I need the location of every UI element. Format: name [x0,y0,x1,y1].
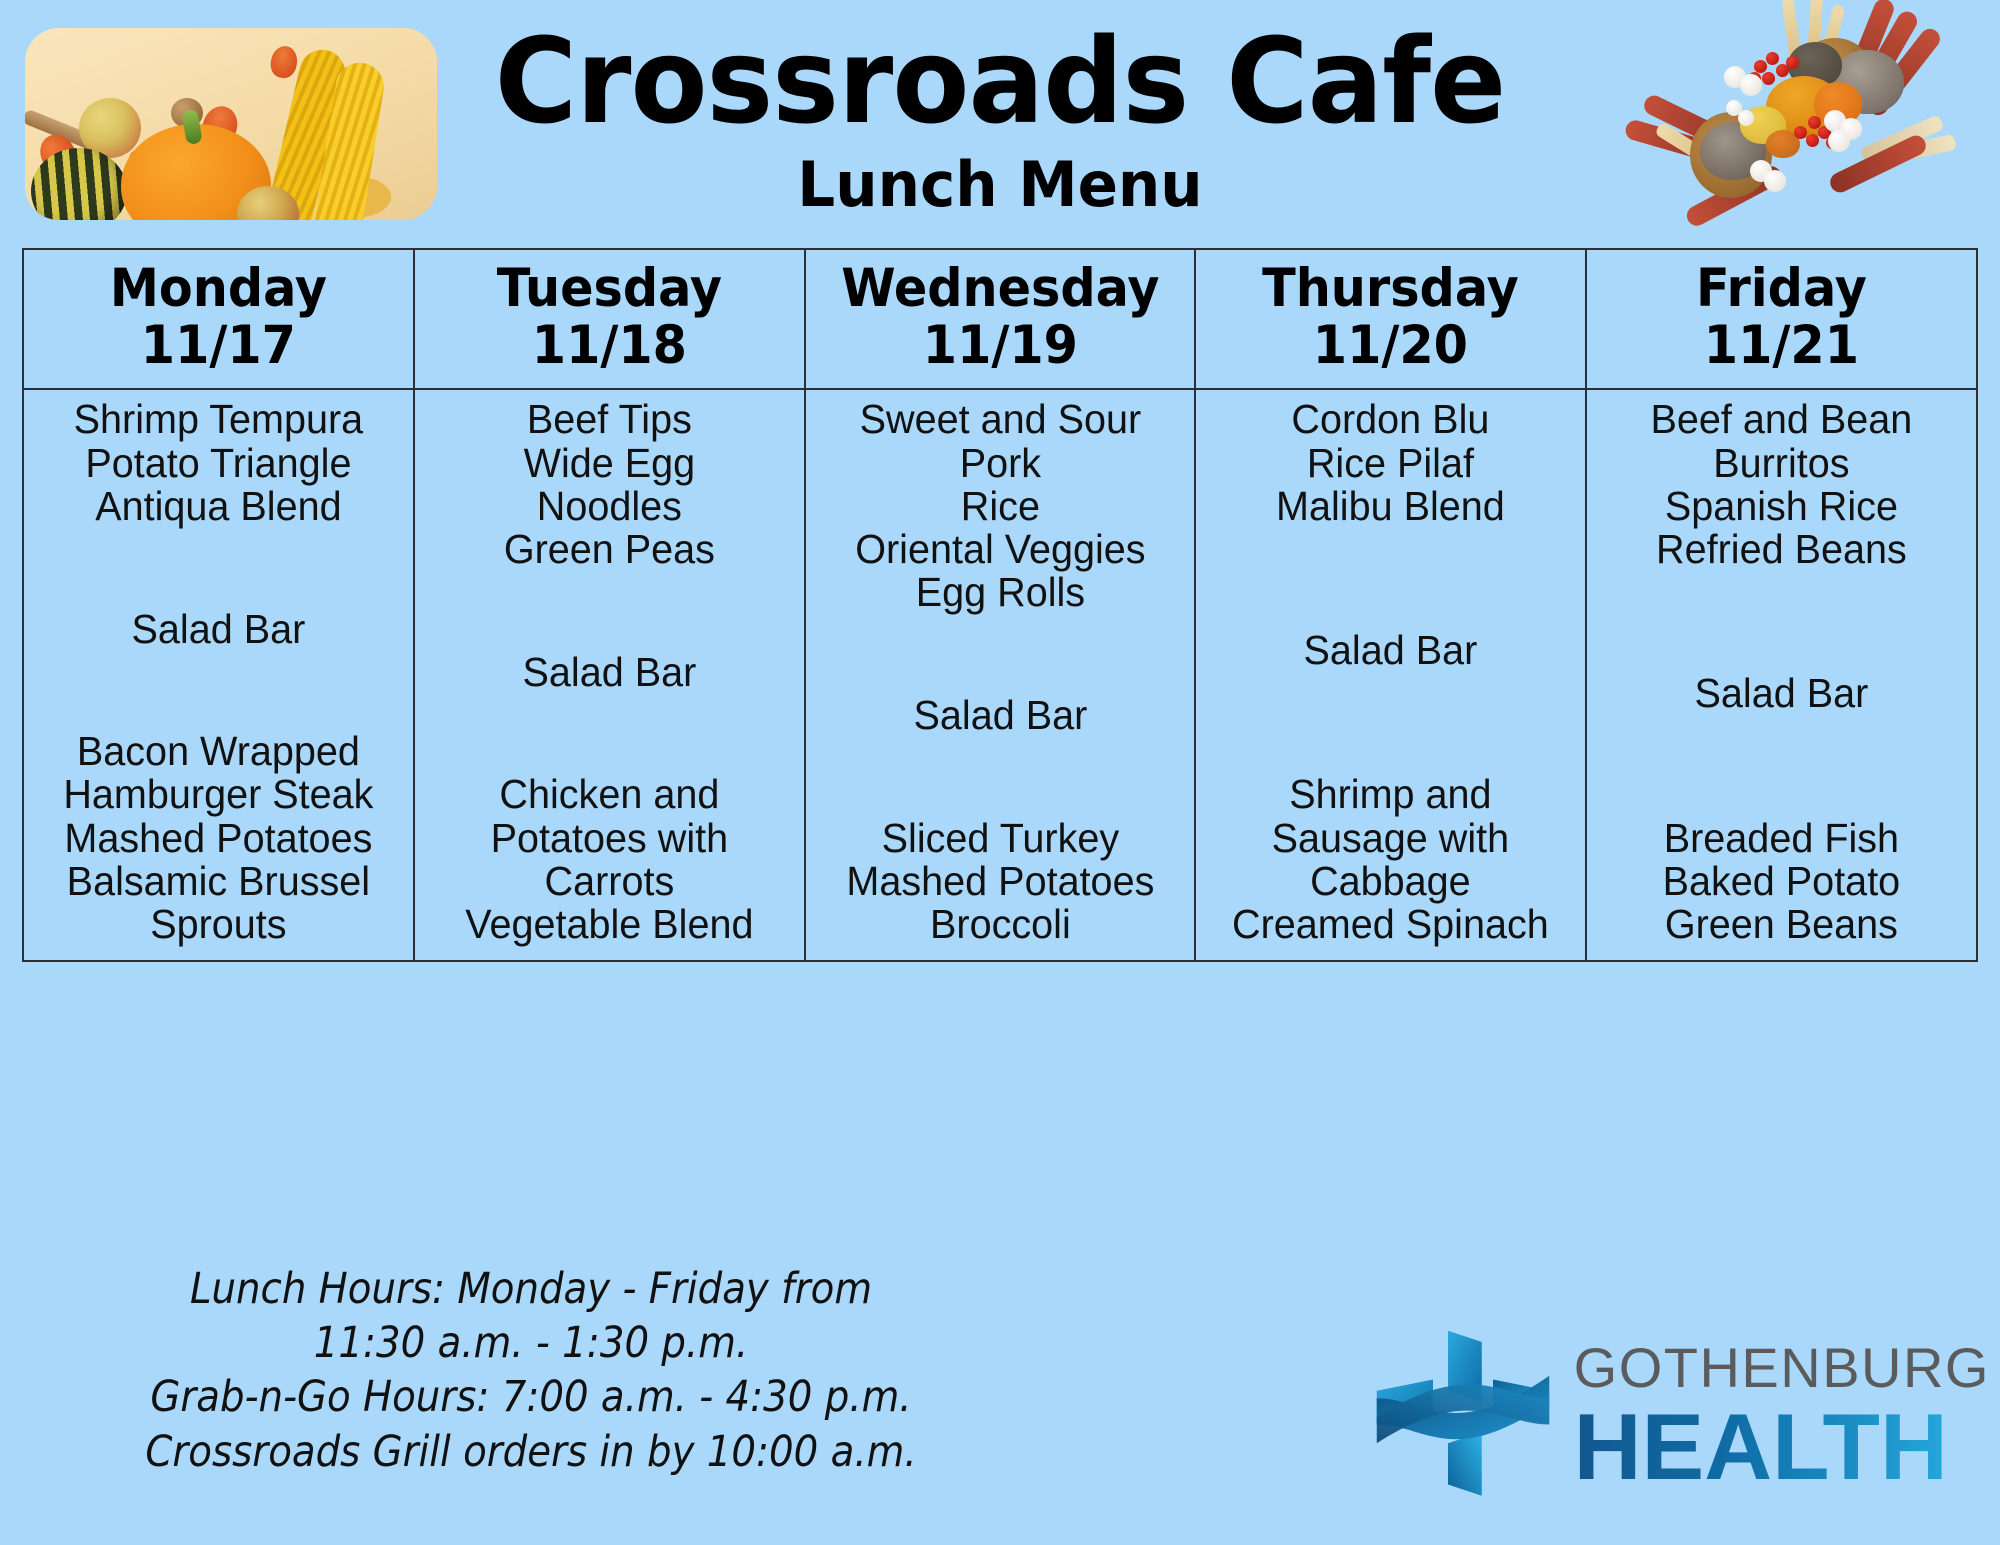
day-header-friday: Friday11/21 [1586,249,1977,389]
day-name: Friday [1605,260,1959,317]
menu-item: Vegetable Blend [425,903,792,946]
weekly-lunch-menu-table: Monday11/17Tuesday11/18Wednesday11/19Thu… [22,248,1978,962]
menu-item: Refried Beans [1598,528,1965,571]
entree-items: Cordon BluRice PilafMalibu Blend [1207,398,1574,528]
table-menu-row: Shrimp TempuraPotato TriangleAntiqua Ble… [23,389,1977,961]
day-name: Monday [41,260,395,317]
menu-item: Broccoli [816,903,1183,946]
berry-shape [1766,52,1779,65]
hours-line: Grab-n-Go Hours: 7:00 a.m. - 4:30 p.m. [77,1370,986,1424]
cotton-boll-shape [1764,170,1786,192]
menu-item: Wide Egg [425,442,792,485]
menu-item: Noodles [425,485,792,528]
berry-shape [1806,134,1819,147]
menu-item: Salad Bar [35,608,402,651]
logo-wordmark: GOTHENBURG HEALTH [1574,1340,1990,1494]
salad-bar-item: Salad Bar [816,694,1183,737]
menu-item: Baked Potato [1598,860,1965,903]
autumn-floral-arrangement [1662,0,1992,234]
day-name: Wednesday [823,260,1177,317]
logo-word-health: HEALTH [1574,1400,1990,1494]
menu-cell-tuesday: Beef TipsWide EggNoodlesGreen PeasSalad … [414,389,805,961]
day-date: 11/18 [432,317,786,374]
menu-item: Sweet and Sour [816,398,1183,441]
menu-item: Rice Pilaf [1207,442,1574,485]
menu-item: Potatoes with [425,817,792,860]
menu-cell-monday: Shrimp TempuraPotato TriangleAntiqua Ble… [23,389,414,961]
salad-bar-item: Salad Bar [35,608,402,651]
menu-item: Egg Rolls [816,571,1183,614]
menu-item: Malibu Blend [1207,485,1574,528]
cotton-boll-shape [1828,130,1850,152]
menu-item: Salad Bar [816,694,1183,737]
grill-items: Chicken andPotatoes withCarrotsVegetable… [425,773,792,946]
menu-item: Chicken and [425,773,792,816]
entree-items: Beef TipsWide EggNoodlesGreen Peas [425,398,792,571]
menu-item: Carrots [425,860,792,903]
cotton-boll-shape [1738,110,1754,126]
day-date: 11/21 [1605,317,1959,374]
day-name: Tuesday [432,260,786,317]
day-header-thursday: Thursday11/20 [1195,249,1586,389]
entree-items: Beef and BeanBurritosSpanish RiceRefried… [1598,398,1965,571]
day-name: Thursday [1214,260,1568,317]
menu-cell-friday: Beef and BeanBurritosSpanish RiceRefried… [1586,389,1977,961]
berry-shape [1762,72,1775,85]
menu-cell-wednesday: Sweet and SourPorkRiceOriental VeggiesEg… [805,389,1196,961]
menu-item: Green Peas [425,528,792,571]
grill-items: Bacon WrappedHamburger SteakMashed Potat… [35,730,402,946]
salad-bar-item: Salad Bar [425,651,792,694]
menu-item: Pork [816,442,1183,485]
menu-item: Mashed Potatoes [816,860,1183,903]
day-header-monday: Monday11/17 [23,249,414,389]
day-date: 11/20 [1214,317,1568,374]
menu-item: Mashed Potatoes [35,817,402,860]
menu-item: Antiqua Blend [35,485,402,528]
menu-cell-inner: Beef and BeanBurritosSpanish RiceRefried… [1591,396,1972,948]
menu-item: Shrimp and [1207,773,1574,816]
menu-cell-thursday: Cordon BluRice PilafMalibu BlendSalad Ba… [1195,389,1586,961]
salad-bar-item: Salad Bar [1207,629,1574,672]
menu-item: Hamburger Steak [35,773,402,816]
menu-item: Potato Triangle [35,442,402,485]
grill-items: Shrimp andSausage withCabbageCreamed Spi… [1207,773,1574,946]
menu-item: Creamed Spinach [1207,903,1574,946]
menu-item: Bacon Wrapped [35,730,402,773]
berry-shape [1794,126,1807,139]
grill-items: Sliced TurkeyMashed PotatoesBroccoli [816,817,1183,947]
menu-item: Sliced Turkey [816,817,1183,860]
berry-shape [1786,56,1799,69]
menu-item: Salad Bar [1598,672,1965,715]
gothenburg-health-logo: GOTHENBURG HEALTH [1368,1327,1990,1507]
menu-cell-inner: Beef TipsWide EggNoodlesGreen PeasSalad … [419,396,800,948]
hours-line: Lunch Hours: Monday - Friday from [77,1262,986,1316]
berry-shape [1754,60,1767,73]
cotton-boll-shape [1740,74,1762,96]
menu-cell-inner: Sweet and SourPorkRiceOriental VeggiesEg… [810,396,1191,948]
day-header-tuesday: Tuesday11/18 [414,249,805,389]
menu-item: Salad Bar [1207,629,1574,672]
day-date: 11/19 [823,317,1177,374]
table-header-row: Monday11/17Tuesday11/18Wednesday11/19Thu… [23,249,1977,389]
hours-line: 11:30 a.m. - 1:30 p.m. [77,1316,986,1370]
logo-word-gothenburg: GOTHENBURG [1574,1340,1990,1396]
menu-item: Burritos [1598,442,1965,485]
menu-item: Cabbage [1207,860,1574,903]
menu-cell-inner: Cordon BluRice PilafMalibu BlendSalad Ba… [1200,396,1581,948]
entree-items: Sweet and SourPorkRiceOriental VeggiesEg… [816,398,1183,614]
berry-shape [1808,116,1821,129]
salad-bar-item: Salad Bar [1598,672,1965,715]
menu-item: Sprouts [35,903,402,946]
menu-item: Shrimp Tempura [35,398,402,441]
hours-line: Crossroads Grill orders in by 10:00 a.m. [77,1425,986,1479]
entree-items: Shrimp TempuraPotato TriangleAntiqua Ble… [35,398,402,528]
menu-item: Spanish Rice [1598,485,1965,528]
grill-items: Breaded FishBaked PotatoGreen Beans [1598,817,1965,947]
menu-item: Salad Bar [425,651,792,694]
hours-notice: Lunch Hours: Monday - Friday from11:30 a… [77,1262,986,1479]
gothenburg-health-ribbon-cross-icon [1368,1327,1558,1507]
day-date: 11/17 [41,317,395,374]
menu-item: Cordon Blu [1207,398,1574,441]
day-header-wednesday: Wednesday11/19 [805,249,1196,389]
menu-item: Sausage with [1207,817,1574,860]
menu-item: Beef Tips [425,398,792,441]
menu-item: Balsamic Brussel [35,860,402,903]
menu-item: Breaded Fish [1598,817,1965,860]
menu-item: Green Beans [1598,903,1965,946]
menu-item: Beef and Bean [1598,398,1965,441]
menu-cell-inner: Shrimp TempuraPotato TriangleAntiqua Ble… [28,396,409,948]
page-header: Crossroads Cafe Lunch Menu [0,0,2000,240]
menu-item: Oriental Veggies [816,528,1183,571]
menu-item: Rice [816,485,1183,528]
